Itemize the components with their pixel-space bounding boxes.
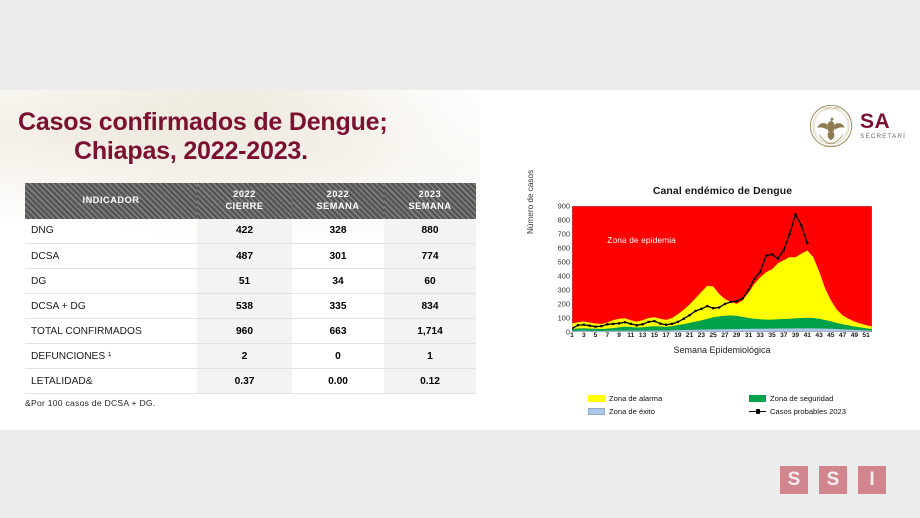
title-line-1: Casos confirmados de Dengue; xyxy=(18,108,488,137)
chart-y-axis-label: Número de casos xyxy=(526,170,535,234)
chart-plot xyxy=(572,206,872,332)
cell-indicator: DCSA + DG xyxy=(25,294,197,319)
table-row: DG 51 34 60 xyxy=(25,269,476,294)
cell-2022-cierre: 960 xyxy=(197,319,292,344)
y-tick-label: 300 xyxy=(544,286,570,295)
government-logo: ESTADOS UNIDOS MEXICANOS SA SECRETARÍ xyxy=(809,104,906,148)
legend-swatch-exito xyxy=(588,408,605,415)
x-tick-label: 23 xyxy=(698,332,705,339)
cell-2022-cierre: 0.37 xyxy=(197,369,292,394)
data-point-marker xyxy=(618,322,620,324)
x-tick-label: 49 xyxy=(851,332,858,339)
table-row: TOTAL CONFIRMADOS 960 663 1,714 xyxy=(25,319,476,344)
x-tick-label: 29 xyxy=(733,332,740,339)
x-tick-label: 39 xyxy=(792,332,799,339)
data-point-marker xyxy=(594,326,596,328)
x-tick-label: 31 xyxy=(745,332,752,339)
y-tick-label: 0 xyxy=(544,328,570,337)
logo-abbr: SA xyxy=(860,111,906,132)
title-line-2: Chiapas, 2022-2023. xyxy=(18,137,488,166)
data-point-marker xyxy=(636,324,638,326)
cell-2023-semana: 774 xyxy=(384,244,476,269)
data-point-marker xyxy=(718,306,720,308)
cell-indicator: DEFUNCIONES ¹ xyxy=(25,344,197,369)
chart-bands xyxy=(572,206,872,332)
cell-2022-semana: 663 xyxy=(292,319,384,344)
data-point-marker xyxy=(794,213,796,215)
cell-2022-semana: 34 xyxy=(292,269,384,294)
x-tick-label: 25 xyxy=(710,332,717,339)
x-tick-label: 45 xyxy=(827,332,834,339)
data-point-marker xyxy=(736,300,738,302)
ssi-watermark: S S I xyxy=(780,466,886,494)
cell-2022-semana: 0 xyxy=(292,344,384,369)
x-tick-label: 9 xyxy=(617,332,621,339)
y-tick-label: 100 xyxy=(544,314,570,323)
svg-text:MEXICANOS: MEXICANOS xyxy=(824,145,838,148)
header-period-2: SEMANA xyxy=(294,201,382,213)
x-tick-label: 37 xyxy=(780,332,787,339)
y-tick-label: 900 xyxy=(544,202,570,211)
cell-indicator: TOTAL CONFIRMADOS xyxy=(25,319,197,344)
cell-2022-semana: 0.00 xyxy=(292,369,384,394)
data-point-marker xyxy=(641,323,643,325)
data-point-marker xyxy=(730,301,732,303)
table-row: DEFUNCIONES ¹ 2 0 1 xyxy=(25,344,476,369)
data-point-marker xyxy=(677,321,679,323)
data-point-marker xyxy=(606,323,608,325)
data-point-marker xyxy=(577,324,579,326)
data-point-marker xyxy=(659,322,661,324)
chart-x-axis-label: Semana Epidemiológica xyxy=(572,345,872,355)
data-point-marker xyxy=(771,253,773,255)
data-point-marker xyxy=(647,321,649,323)
legend-item-zona-de-alarma: Zona de alarma xyxy=(588,394,745,403)
column-header-2023-semana: 2023 SEMANA xyxy=(384,183,476,219)
table-row: DCSA + DG 538 335 834 xyxy=(25,294,476,319)
cell-indicator: DNG xyxy=(25,219,197,244)
legend-label: Zona de éxito xyxy=(609,407,655,416)
mexican-eagle-emblem-icon: ESTADOS UNIDOS MEXICANOS xyxy=(809,104,853,148)
presentation-slide: Casos confirmados de Dengue; Chiapas, 20… xyxy=(0,90,920,430)
column-header-2022-semana: 2022 SEMANA xyxy=(292,183,384,219)
x-tick-label: 51 xyxy=(862,332,869,339)
legend-label: Casos probables 2023 xyxy=(770,407,846,416)
data-point-marker xyxy=(741,297,743,299)
table-body: DNG 422 328 880 DCSA 487 301 774 DG 51 xyxy=(25,219,476,394)
cell-indicator: DCSA xyxy=(25,244,197,269)
x-tick-label: 35 xyxy=(768,332,775,339)
cell-2022-cierre: 2 xyxy=(197,344,292,369)
x-tick-label: 13 xyxy=(639,332,646,339)
x-tick-label: 15 xyxy=(651,332,658,339)
cell-2022-cierre: 538 xyxy=(197,294,292,319)
legend-label: Zona de alarma xyxy=(609,394,662,403)
data-point-marker xyxy=(700,308,702,310)
data-point-marker xyxy=(630,323,632,325)
data-point-marker xyxy=(747,289,749,291)
x-tick-label: 17 xyxy=(662,332,669,339)
legend-item-zona-de-seguridad: Zona de seguridad xyxy=(749,394,906,403)
chart-title: Canal endémico de Dengue xyxy=(530,186,915,197)
cell-indicator: DG xyxy=(25,269,197,294)
cell-2023-semana: 1 xyxy=(384,344,476,369)
page-title: Casos confirmados de Dengue; Chiapas, 20… xyxy=(18,108,488,167)
data-point-marker xyxy=(683,318,685,320)
header-year-1: 2022 xyxy=(199,189,290,201)
indicators-table-container: INDICADOR 2022 CIERRE 2022 SEMANA 2023 xyxy=(25,183,476,394)
x-tick-label: 43 xyxy=(815,332,822,339)
data-point-marker xyxy=(777,257,779,259)
data-point-marker xyxy=(653,320,655,322)
cell-indicator: LETALIDAD& xyxy=(25,369,197,394)
header-year-2: 2022 xyxy=(294,189,382,201)
endemic-channel-chart: Canal endémico de Dengue Número de casos… xyxy=(530,182,915,425)
table-row: DCSA 487 301 774 xyxy=(25,244,476,269)
x-tick-label: 7 xyxy=(605,332,609,339)
data-point-marker xyxy=(624,321,626,323)
legend-item-zona-de-exito: Zona de éxito xyxy=(588,407,745,416)
cell-2023-semana: 60 xyxy=(384,269,476,294)
data-point-marker xyxy=(600,325,602,327)
y-tick-label: 200 xyxy=(544,300,570,309)
logo-subtitle: SECRETARÍ xyxy=(860,134,906,140)
x-tick-label: 27 xyxy=(721,332,728,339)
data-point-marker xyxy=(583,324,585,326)
cell-2022-cierre: 422 xyxy=(197,219,292,244)
data-point-marker xyxy=(765,255,767,257)
data-point-marker xyxy=(783,249,785,251)
data-point-marker xyxy=(589,325,591,327)
x-tick-label: 19 xyxy=(674,332,681,339)
watermark-letter-s1: S xyxy=(780,466,808,494)
legend-line-casos-probables xyxy=(749,408,766,415)
chart-y-axis-ticks: 0100200300400500600700800900 xyxy=(544,206,570,330)
table-row: DNG 422 328 880 xyxy=(25,219,476,244)
indicators-table: INDICADOR 2022 CIERRE 2022 SEMANA 2023 xyxy=(25,183,476,394)
cell-2022-cierre: 51 xyxy=(197,269,292,294)
data-point-marker xyxy=(724,303,726,305)
header-year-3: 2023 xyxy=(386,189,474,201)
cell-2023-semana: 834 xyxy=(384,294,476,319)
data-point-marker xyxy=(789,233,791,235)
legend-swatch-seguridad xyxy=(749,395,766,402)
data-point-marker xyxy=(800,224,802,226)
x-tick-label: 11 xyxy=(627,332,634,339)
x-tick-label: 47 xyxy=(839,332,846,339)
watermark-letter-i: I xyxy=(858,466,886,494)
legend-item-casos-probables: Casos probables 2023 xyxy=(749,407,906,416)
data-point-marker xyxy=(706,305,708,307)
header-period-1: CIERRE xyxy=(199,201,290,213)
data-point-marker xyxy=(671,323,673,325)
x-tick-label: 5 xyxy=(594,332,598,339)
x-tick-label: 3 xyxy=(582,332,586,339)
data-point-marker xyxy=(712,307,714,309)
data-point-marker xyxy=(665,324,667,326)
cell-2022-cierre: 487 xyxy=(197,244,292,269)
x-tick-label: 21 xyxy=(686,332,693,339)
chart-x-axis-ticks: 1357911131517192123252729313335373941434… xyxy=(572,332,872,344)
cell-2023-semana: 880 xyxy=(384,219,476,244)
watermark-letter-s2: S xyxy=(819,466,847,494)
column-header-2022-cierre: 2022 CIERRE xyxy=(197,183,292,219)
data-point-marker xyxy=(612,323,614,325)
legend-swatch-alarma xyxy=(588,395,605,402)
cell-2023-semana: 1,714 xyxy=(384,319,476,344)
table-footnote: &Por 100 casos de DCSA + DG. xyxy=(25,398,155,408)
column-header-indicador: INDICADOR xyxy=(25,183,197,219)
y-tick-label: 800 xyxy=(544,216,570,225)
data-point-marker xyxy=(759,271,761,273)
y-tick-label: 500 xyxy=(544,258,570,267)
y-tick-label: 400 xyxy=(544,272,570,281)
table-row: LETALIDAD& 0.37 0.00 0.12 xyxy=(25,369,476,394)
cell-2023-semana: 0.12 xyxy=(384,369,476,394)
cell-2022-semana: 301 xyxy=(292,244,384,269)
x-tick-label: 1 xyxy=(570,332,574,339)
cell-2022-semana: 328 xyxy=(292,219,384,244)
data-point-marker xyxy=(689,314,691,316)
data-point-marker xyxy=(694,310,696,312)
screenshot-root: Casos confirmados de Dengue; Chiapas, 20… xyxy=(0,0,920,518)
y-tick-label: 600 xyxy=(544,244,570,253)
header-period-0: INDICADOR xyxy=(27,195,195,207)
data-point-marker xyxy=(806,242,808,244)
table-header-row: INDICADOR 2022 CIERRE 2022 SEMANA 2023 xyxy=(25,183,476,219)
legend-label: Zona de seguridad xyxy=(770,394,833,403)
y-tick-label: 700 xyxy=(544,230,570,239)
cell-2022-semana: 335 xyxy=(292,294,384,319)
x-tick-label: 41 xyxy=(804,332,811,339)
logo-wordmark: SA SECRETARÍ xyxy=(860,111,906,140)
data-point-marker xyxy=(753,278,755,280)
chart-legend: Zona de alarma Zona de seguridad Zona de… xyxy=(588,394,906,416)
x-tick-label: 33 xyxy=(757,332,764,339)
header-period-3: SEMANA xyxy=(386,201,474,213)
